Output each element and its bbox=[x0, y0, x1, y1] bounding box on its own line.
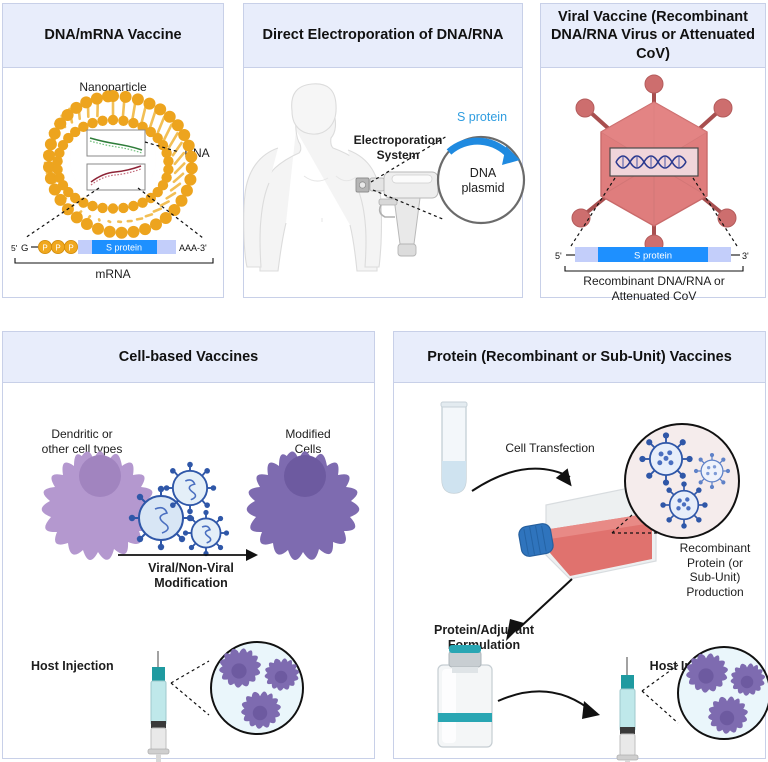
panel-viral-vaccine-title: Viral Vaccine (Recombinant DNA/RNA Virus… bbox=[541, 4, 765, 68]
svg-text:P: P bbox=[42, 243, 47, 252]
panel-dna-mrna-title: DNA/mRNA Vaccine bbox=[3, 4, 223, 68]
injection-arrow bbox=[498, 691, 600, 719]
g-cap-label: G bbox=[21, 243, 28, 254]
coronavirus-particle bbox=[660, 481, 707, 528]
panel-viral-vaccine: Viral Vaccine (Recombinant DNA/RNA Virus… bbox=[540, 3, 766, 298]
viral-s-protein-construct: 5' S protein 3' bbox=[553, 244, 755, 266]
s-protein-label: S protein bbox=[106, 243, 142, 253]
host-injection-magnifier bbox=[171, 642, 303, 734]
panel-protein-vaccines: Protein (Recombinant or Sub-Unit) Vaccin… bbox=[393, 331, 766, 759]
test-tube bbox=[441, 402, 467, 493]
three-prime-label: AAA-3' bbox=[179, 243, 207, 253]
human-figure bbox=[244, 84, 382, 271]
panel-cell-based-vaccines: Cell-based Vaccines Dendritic or other c… bbox=[2, 331, 375, 759]
panel-electroporation-title: Direct Electroporation of DNA/RNA bbox=[244, 4, 522, 68]
dendritic-cell-source bbox=[42, 451, 155, 560]
panel-electroporation: Direct Electroporation of DNA/RNA bbox=[243, 3, 523, 298]
viral-five-prime-label: 5' bbox=[555, 251, 562, 261]
panel-protein-body: Cell Transfection Recombinant Protein (o… bbox=[394, 383, 765, 758]
panel-viral-vaccine-body: 5' S protein 3' Recombinant DNA/RNA or A… bbox=[541, 68, 765, 297]
virus-particle bbox=[183, 510, 229, 556]
electroporation-system-label: Electroporation System bbox=[340, 133, 456, 162]
figure-root: DNA/mRNA Vaccine Nanoparticle DNA bbox=[0, 0, 768, 762]
cell-transfection-arrow bbox=[472, 466, 578, 491]
flask-cap bbox=[518, 522, 555, 557]
mrna-bracket-label: mRNA bbox=[58, 267, 168, 282]
s-protein-arc-label: S protein bbox=[436, 110, 528, 125]
syringe bbox=[148, 651, 169, 762]
panel-protein-title: Protein (Recombinant or Sub-Unit) Vaccin… bbox=[394, 332, 765, 383]
viral-s-protein-label: S protein bbox=[634, 251, 672, 262]
protein-vaccine-diagram bbox=[394, 383, 767, 758]
dna-strand-inset-green bbox=[87, 130, 145, 156]
panel-dna-mrna-vaccine: DNA/mRNA Vaccine Nanoparticle DNA bbox=[2, 3, 224, 298]
dna-plasmid-label: DNA plasmid bbox=[448, 166, 518, 197]
panel-cell-based-body: Dendritic or other cell types Modified C… bbox=[3, 383, 374, 758]
formulation-arrow bbox=[506, 579, 572, 641]
svg-text:P: P bbox=[55, 243, 60, 252]
coronavirus-particle bbox=[639, 432, 692, 485]
syringe bbox=[617, 657, 638, 762]
vaccine-vial bbox=[438, 645, 492, 747]
electrode-tip bbox=[356, 178, 369, 192]
panel-electroporation-body: Electroporation System S protein DNA pla… bbox=[244, 68, 522, 297]
panel-cell-based-title: Cell-based Vaccines bbox=[3, 332, 374, 383]
protein-host-injection-magnifier bbox=[642, 647, 768, 739]
svg-text:P: P bbox=[68, 243, 73, 252]
modification-arrow bbox=[118, 549, 258, 561]
five-prime-label: 5' bbox=[11, 243, 18, 253]
dendritic-cell-modified bbox=[247, 451, 360, 560]
coronavirus-particle bbox=[694, 453, 730, 489]
viral-genome-window bbox=[610, 148, 698, 176]
phosphate-group: P P P bbox=[38, 240, 77, 253]
viral-three-prime-label: 3' bbox=[742, 251, 749, 261]
panel-dna-mrna-body: Nanoparticle DNA bbox=[3, 68, 223, 297]
viral-construct-caption: Recombinant DNA/RNA or Attenuated CoV bbox=[554, 274, 754, 303]
rna-strand-inset-red bbox=[87, 164, 145, 190]
virus-particle bbox=[164, 462, 216, 514]
cell-based-diagram bbox=[3, 383, 376, 758]
mrna-construct: 5' G P P P S protein AAA-3' bbox=[9, 236, 219, 258]
